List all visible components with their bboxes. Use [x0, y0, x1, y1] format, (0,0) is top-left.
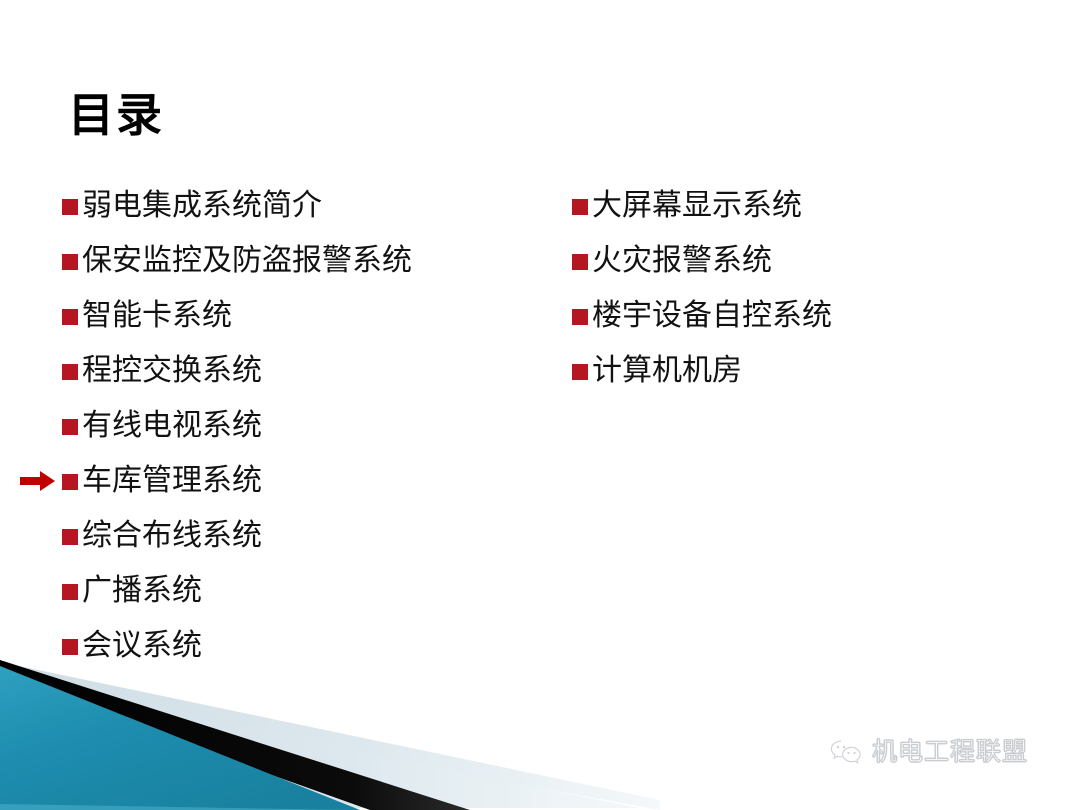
red-square-bullet-icon — [62, 254, 78, 270]
toc-item[interactable]: 弱电集成系统简介 — [62, 178, 532, 233]
toc-item-label: 有线电视系统 — [82, 409, 262, 443]
toc-item[interactable]: 程控交换系统 — [62, 343, 532, 398]
decoration-pale-band — [0, 662, 660, 810]
toc-item-label: 车库管理系统 — [82, 464, 262, 498]
toc-item-label: 火灾报警系统 — [592, 244, 772, 278]
toc-item[interactable]: 计算机机房 — [572, 343, 1032, 398]
decoration-black-band — [0, 660, 470, 810]
decoration-teal-band — [0, 666, 360, 810]
toc-item-label: 大屏幕显示系统 — [592, 189, 802, 223]
toc-item-label: 楼宇设备自控系统 — [592, 299, 832, 333]
red-square-bullet-icon — [62, 584, 78, 600]
toc-item-label: 计算机机房 — [592, 354, 742, 388]
slide-canvas: 目录 弱电集成系统简介保安监控及防盗报警系统智能卡系统程控交换系统有线电视系统车… — [0, 0, 1080, 810]
toc-item-label: 智能卡系统 — [82, 299, 232, 333]
red-square-bullet-icon — [572, 309, 588, 325]
toc-item[interactable]: 楼宇设备自控系统 — [572, 288, 1032, 343]
toc-item-label: 综合布线系统 — [82, 519, 262, 553]
red-square-bullet-icon — [572, 254, 588, 270]
toc-item-label: 广播系统 — [82, 574, 202, 608]
toc-item-label: 保安监控及防盗报警系统 — [82, 244, 412, 278]
red-square-bullet-icon — [62, 474, 78, 490]
toc-item[interactable]: 车库管理系统 — [62, 453, 532, 508]
red-square-bullet-icon — [62, 419, 78, 435]
toc-item[interactable]: 会议系统 — [62, 618, 532, 673]
red-square-bullet-icon — [62, 639, 78, 655]
toc-item-label: 会议系统 — [82, 629, 202, 663]
decoration-pale-band-fill — [0, 680, 640, 808]
red-square-bullet-icon — [62, 529, 78, 545]
wechat-icon — [830, 739, 864, 765]
decoration-teal-edge — [0, 804, 352, 810]
bottom-diagonal-decoration — [0, 650, 1080, 810]
red-square-bullet-icon — [572, 364, 588, 380]
watermark-text: 机电工程联盟 — [872, 738, 1028, 766]
watermark: 机电工程联盟 — [830, 738, 1028, 766]
red-square-bullet-icon — [572, 199, 588, 215]
red-square-bullet-icon — [62, 309, 78, 325]
red-square-bullet-icon — [62, 199, 78, 215]
toc-item[interactable]: 有线电视系统 — [62, 398, 532, 453]
toc-item[interactable]: 智能卡系统 — [62, 288, 532, 343]
toc-right-column: 大屏幕显示系统火灾报警系统楼宇设备自控系统计算机机房 — [572, 178, 1032, 398]
current-item-arrow-icon — [20, 469, 56, 493]
toc-item[interactable]: 广播系统 — [62, 563, 532, 618]
toc-item-label: 弱电集成系统简介 — [82, 189, 322, 223]
toc-item[interactable]: 保安监控及防盗报警系统 — [62, 233, 532, 288]
toc-left-column: 弱电集成系统简介保安监控及防盗报警系统智能卡系统程控交换系统有线电视系统车库管理… — [62, 178, 532, 673]
red-square-bullet-icon — [62, 364, 78, 380]
toc-item[interactable]: 大屏幕显示系统 — [572, 178, 1032, 233]
toc-item-label: 程控交换系统 — [82, 354, 262, 388]
page-title: 目录 — [68, 92, 164, 138]
toc-item[interactable]: 火灾报警系统 — [572, 233, 1032, 288]
toc-item[interactable]: 综合布线系统 — [62, 508, 532, 563]
